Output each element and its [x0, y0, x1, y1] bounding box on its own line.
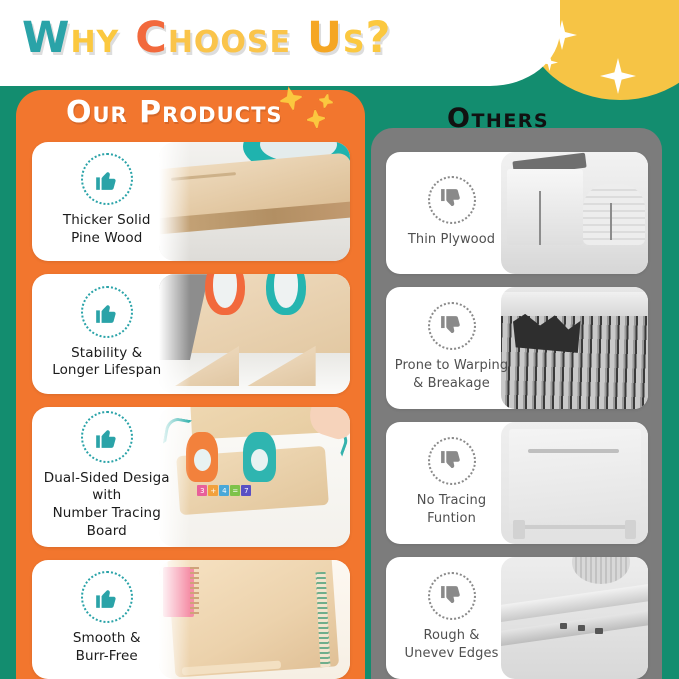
product-card[interactable]: 3 + 4 = 7 Dual-Sided Des	[32, 407, 350, 547]
infographic-canvas: Why Choose Us? Our Products Others	[0, 0, 679, 679]
math-tile: +	[208, 485, 218, 496]
product-card[interactable]: Stability & Longer Lifespan	[32, 274, 350, 393]
title-segment: C	[135, 13, 168, 63]
thumbs-up-icon	[81, 571, 133, 623]
math-tile: =	[230, 485, 240, 496]
other-card[interactable]: Thin Plywood	[386, 152, 648, 274]
product-photo	[159, 142, 350, 261]
products-heading: Our Products	[66, 95, 283, 130]
thumbs-down-icon	[428, 437, 476, 485]
title-segment: U	[307, 13, 343, 63]
other-card-label: Rough & Unevev Edges	[405, 627, 499, 661]
title-segment: s?	[343, 13, 392, 63]
other-photo	[501, 287, 648, 409]
page-title: Why Choose Us?	[22, 13, 391, 63]
other-card-label: Prone to Warping & Breakage	[395, 357, 508, 391]
thumbs-down-icon	[428, 176, 476, 224]
others-heading: Others	[447, 103, 549, 134]
math-tile: 3	[197, 485, 207, 496]
other-photo	[501, 422, 648, 544]
product-card[interactable]: Smooth & Burr-Free	[32, 560, 350, 679]
title-segment: hoose	[168, 13, 307, 63]
product-photo	[159, 560, 350, 679]
thumbs-up-icon	[81, 286, 133, 338]
thumbs-down-icon	[428, 572, 476, 620]
product-card-label: Stability & Longer Lifespan	[52, 345, 161, 381]
product-card-label: Dual-Sided Desiga with Number Tracing Bo…	[34, 470, 179, 541]
title-segment: W	[22, 13, 70, 63]
product-photo: 3 + 4 = 7	[159, 407, 350, 547]
others-card-list: Thin Plywood Prone to Warping & Brea	[386, 152, 648, 679]
product-card[interactable]: Thicker Solid Pine Wood	[32, 142, 350, 261]
other-card-label: No Tracing Funtion	[417, 492, 486, 526]
other-photo	[501, 152, 648, 274]
thumbs-down-icon	[428, 302, 476, 350]
other-card[interactable]: Rough & Unevev Edges	[386, 557, 648, 679]
other-card[interactable]: Prone to Warping & Breakage	[386, 287, 648, 409]
other-photo	[501, 557, 648, 679]
product-card-label: Smooth & Burr-Free	[73, 630, 141, 666]
product-photo	[159, 274, 350, 393]
thumbs-up-icon	[81, 411, 133, 463]
math-tiles: 3 + 4 = 7	[197, 485, 251, 496]
products-card-list: Thicker Solid Pine Wood	[32, 142, 350, 679]
other-card-label: Thin Plywood	[408, 231, 495, 248]
math-tile: 7	[241, 485, 251, 496]
product-card-label: Thicker Solid Pine Wood	[63, 212, 151, 248]
math-tile: 4	[219, 485, 229, 496]
other-card[interactable]: No Tracing Funtion	[386, 422, 648, 544]
thumbs-up-icon	[81, 153, 133, 205]
title-segment: hy	[70, 13, 135, 63]
